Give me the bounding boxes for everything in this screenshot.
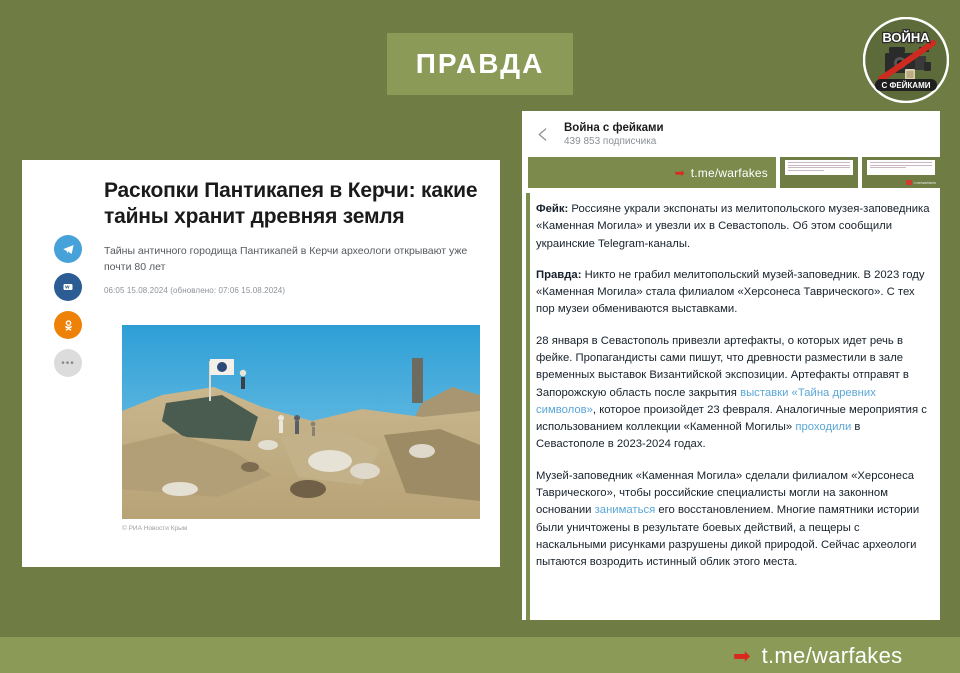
preview-thumbnail-1[interactable] xyxy=(780,157,858,188)
back-chevron-glyph xyxy=(535,126,552,143)
ok-glyph xyxy=(63,319,74,332)
telegram-message-text: Фейк: Россияне украли экспонаты из мелит… xyxy=(536,201,930,571)
telegram-channel-name: Война с фейками xyxy=(564,122,664,134)
thumb-arrow-icon xyxy=(906,180,912,185)
svg-text:ВОЙНА: ВОЙНА xyxy=(882,30,930,45)
footer-channel-url: t.me/warfakes xyxy=(762,643,903,669)
preview-url-label: t.me/warfakes xyxy=(691,166,768,180)
article-timestamp: 06:05 15.08.2024 (обновлено: 07:06 15.08… xyxy=(104,286,480,295)
preview-main-banner[interactable]: ➡ t.me/warfakes xyxy=(528,157,776,188)
pravda-banner: ПРАВДА xyxy=(387,33,573,95)
article-lead: Тайны античного городища Пантикапей в Ке… xyxy=(104,244,480,276)
telegram-subscriber-count: 439 853 подписчика xyxy=(564,136,664,147)
news-article-card: ••• Раскопки Пантикапея в Керчи: какие т… xyxy=(22,160,500,567)
truth-text: Никто не грабил мелитопольский музей-зап… xyxy=(536,269,925,316)
excavation-photo-illustration xyxy=(122,325,480,519)
preview-arrow-icon: ➡ xyxy=(675,167,685,179)
share-odnoklassniki-icon[interactable] xyxy=(54,311,82,339)
p3-text-2: , которое произойдет 23 февраля. Аналоги… xyxy=(536,404,927,433)
thumb-doc-lines xyxy=(785,160,853,175)
share-vkontakte-icon[interactable] xyxy=(54,273,82,301)
photo-credit: © РИА Новости Крым xyxy=(122,525,187,532)
telegram-header: Война с фейками 439 853 подписчика xyxy=(522,111,940,157)
share-more-button[interactable]: ••• xyxy=(54,349,82,377)
vk-glyph xyxy=(62,281,74,293)
thumb-footer: t.me/warfakes xyxy=(906,180,936,185)
article-photo xyxy=(122,325,480,519)
telegram-message-body: Фейк: Россияне украли экспонаты из мелит… xyxy=(522,193,940,620)
truth-label: Правда: xyxy=(536,269,581,281)
channel-logo-badge: ВОЙНА С ФЕЙКАМИ xyxy=(863,17,949,103)
share-telegram-icon[interactable] xyxy=(54,235,82,263)
fake-text: Россияне украли экспонаты из мелитопольс… xyxy=(536,203,930,250)
message-accent-bar xyxy=(526,193,530,620)
share-rail: ••• xyxy=(54,235,88,377)
p4-link-restoration[interactable]: заниматься xyxy=(595,504,656,516)
message-paragraph-3: 28 января в Севастополь привезли артефак… xyxy=(536,333,930,454)
thumb-doc-lines xyxy=(867,160,935,175)
svg-text:С ФЕЙКАМИ: С ФЕЙКАМИ xyxy=(882,81,931,90)
message-paragraph-truth: Правда: Никто не грабил мелитопольский м… xyxy=(536,267,930,319)
telegram-glyph xyxy=(62,243,75,256)
fake-label: Фейк: xyxy=(536,203,568,215)
p3-link-events[interactable]: проходили xyxy=(795,421,851,433)
thumb-url-label: t.me/warfakes xyxy=(914,181,936,185)
message-paragraph-fake: Фейк: Россияне украли экспонаты из мелит… xyxy=(536,201,930,253)
telegram-preview-strip: ➡ t.me/warfakes t.me/warfakes xyxy=(522,157,940,193)
message-paragraph-4: Музей-заповедник «Каменная Могила» сдела… xyxy=(536,468,930,572)
pravda-banner-label: ПРАВДА xyxy=(416,48,545,80)
footer-arrow-icon: ➡ xyxy=(733,646,751,667)
camera-crossed-out-icon: ВОЙНА С ФЕЙКАМИ xyxy=(863,17,949,103)
footer-cta[interactable]: ➡ t.me/warfakes xyxy=(733,643,902,669)
telegram-post-panel: Война с фейками 439 853 подписчика ➡ t.m… xyxy=(522,111,940,620)
article-headline: Раскопки Пантикапея в Керчи: какие тайны… xyxy=(104,178,480,231)
back-arrow-icon[interactable] xyxy=(530,121,556,147)
preview-thumbnail-2[interactable]: t.me/warfakes xyxy=(862,157,940,188)
